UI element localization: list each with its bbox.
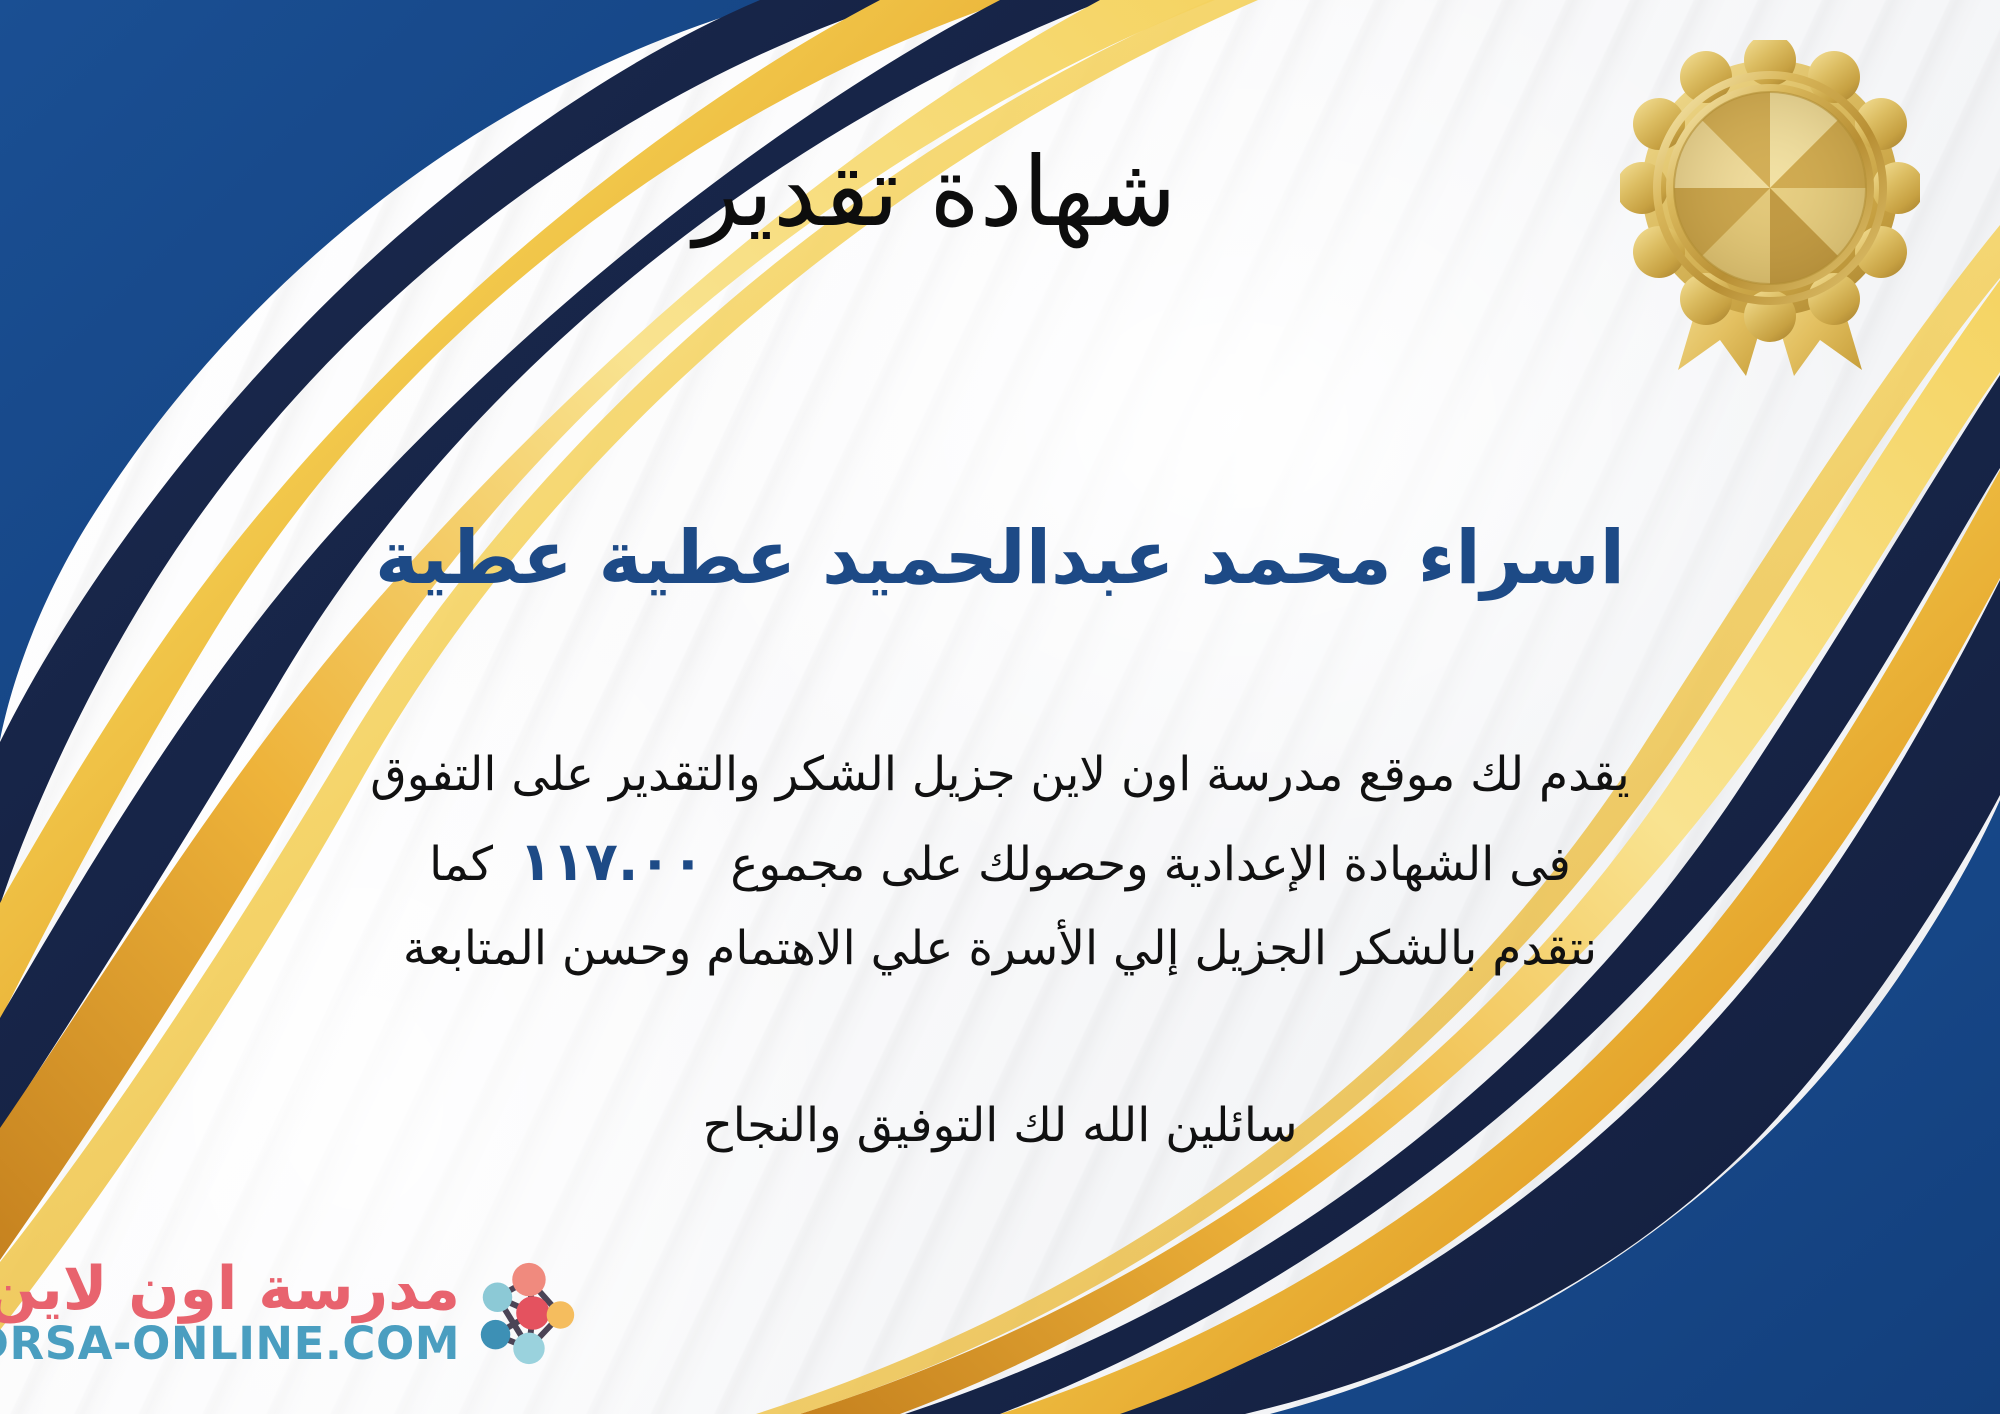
page-title: شهادة تقدير <box>0 140 2000 246</box>
brand-arabic-name: مدرسة اون لاين <box>0 1259 460 1320</box>
body-line-1: يقدم لك موقع مدرسة اون لاين جزيل الشكر و… <box>70 735 1930 816</box>
closing-line: سائلين الله لك التوفيق والنجاح <box>0 1098 2000 1153</box>
certificate-canvas: شهادة تقدير اسراء محمد عبدالحميد عطية عط… <box>0 0 2000 1414</box>
brand-logo[interactable]: مدرسة اون لاين MADRSA-ONLINE.COM <box>26 1228 586 1398</box>
body-line-2-prefix: فى الشهادة الإعدادية وحصولك على مجموع <box>730 837 1571 892</box>
recipient-name: اسراء محمد عبدالحميد عطية عطية <box>0 512 2000 605</box>
body-line-2-suffix: كما <box>429 837 493 892</box>
brand-website: MADRSA-ONLINE.COM <box>0 1320 460 1367</box>
brand-text-group: مدرسة اون لاين MADRSA-ONLINE.COM <box>0 1259 460 1367</box>
body-line-3: نتقدم بالشكر الجزيل إلي الأسرة علي الاهت… <box>70 909 1930 990</box>
certificate-body: يقدم لك موقع مدرسة اون لاين جزيل الشكر و… <box>70 735 1930 990</box>
score-value: ١١٧.٠٠ <box>493 816 730 909</box>
body-line-2: فى الشهادة الإعدادية وحصولك على مجموع١١٧… <box>70 816 1930 909</box>
network-nodes-icon <box>468 1254 586 1372</box>
